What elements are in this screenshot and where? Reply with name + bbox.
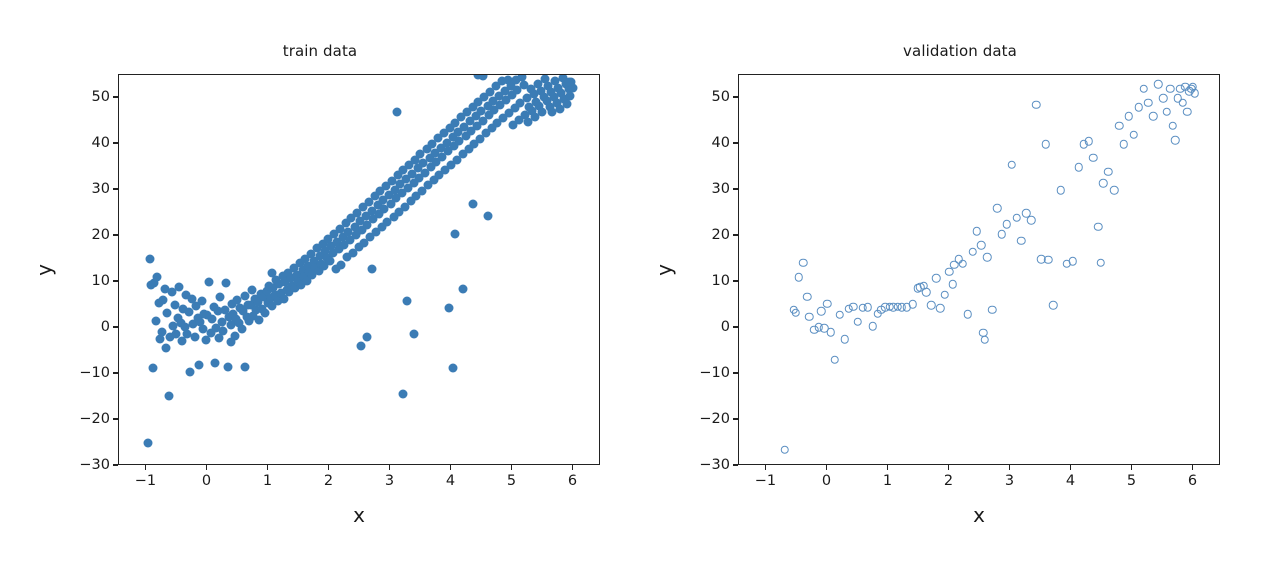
y-tick-mark — [733, 188, 738, 189]
data-point — [1115, 121, 1124, 130]
data-point — [940, 291, 949, 300]
data-point — [936, 304, 945, 313]
data-point — [186, 368, 195, 377]
data-point — [831, 355, 840, 364]
data-point — [1097, 258, 1106, 267]
data-point — [945, 268, 954, 277]
data-point — [1012, 213, 1021, 222]
data-point — [1049, 301, 1058, 310]
data-point — [849, 303, 858, 312]
data-point — [1178, 98, 1187, 107]
data-point — [450, 230, 459, 239]
y-tick-mark — [733, 234, 738, 235]
data-point — [932, 274, 941, 283]
x-tick-label: 3 — [385, 473, 394, 489]
y-tick-mark — [733, 280, 738, 281]
y-tick-label: −10 — [74, 365, 110, 381]
x-tick-label: 2 — [324, 473, 333, 489]
data-point — [449, 364, 458, 373]
data-point — [1007, 160, 1016, 169]
data-point — [1125, 112, 1134, 121]
y-tick-label: 40 — [694, 135, 730, 151]
data-point — [1017, 236, 1026, 245]
data-point — [1159, 94, 1168, 103]
y-tick-mark — [113, 372, 118, 373]
y-tick-mark — [733, 142, 738, 143]
data-point — [194, 361, 203, 370]
data-point — [410, 329, 419, 338]
data-point — [993, 204, 1002, 213]
x-tick-mark — [511, 465, 512, 470]
data-point — [840, 335, 849, 344]
y-tick-mark — [113, 326, 118, 327]
data-point — [145, 255, 154, 264]
data-point — [1169, 121, 1178, 130]
x-tick-mark — [450, 465, 451, 470]
x-axis-label-train: x — [353, 503, 365, 527]
data-point — [393, 108, 402, 117]
data-point — [565, 77, 574, 86]
x-tick-mark — [389, 465, 390, 470]
data-point — [1042, 140, 1051, 149]
x-tick-mark — [267, 465, 268, 470]
x-tick-mark — [1131, 465, 1132, 470]
data-point — [402, 296, 411, 305]
y-tick-mark — [113, 188, 118, 189]
x-tick-label: 6 — [568, 473, 577, 489]
x-tick-label: −1 — [135, 473, 156, 489]
y-tick-mark — [113, 96, 118, 97]
data-point — [469, 199, 478, 208]
data-point — [238, 324, 247, 333]
x-tick-label: −1 — [755, 473, 776, 489]
x-axis-label-validation: x — [973, 503, 985, 527]
y-tick-mark — [113, 280, 118, 281]
data-point — [1032, 101, 1041, 110]
data-point — [959, 259, 968, 268]
x-tick-label: 0 — [202, 473, 211, 489]
y-tick-mark — [733, 326, 738, 327]
x-tick-mark — [1192, 465, 1193, 470]
data-point — [478, 74, 487, 80]
data-point — [241, 363, 250, 372]
x-tick-label: 0 — [822, 473, 831, 489]
data-point — [977, 241, 986, 250]
y-tick-label: −20 — [694, 411, 730, 427]
data-point — [163, 308, 172, 317]
x-tick-mark — [145, 465, 146, 470]
y-tick-mark — [113, 418, 118, 419]
chart-title-train: train data — [0, 42, 640, 60]
y-tick-label: 10 — [74, 273, 110, 289]
x-tick-mark — [765, 465, 766, 470]
plot-area-train — [118, 74, 600, 465]
y-tick-label: 30 — [694, 181, 730, 197]
x-tick-mark — [328, 465, 329, 470]
x-tick-mark — [826, 465, 827, 470]
data-point — [337, 260, 346, 269]
data-point — [1068, 257, 1077, 266]
y-tick-label: 20 — [694, 227, 730, 243]
data-point — [398, 390, 407, 399]
data-point — [153, 273, 162, 282]
subplot-train-data: train data −10123456−30−20−1001020304050… — [0, 0, 640, 566]
data-point — [948, 280, 957, 289]
data-point — [362, 333, 371, 342]
data-point — [805, 313, 814, 322]
data-point — [1149, 112, 1158, 121]
data-point — [877, 305, 886, 314]
data-point — [927, 301, 936, 310]
data-point — [205, 277, 214, 286]
data-point — [1139, 85, 1148, 94]
x-tick-mark — [206, 465, 207, 470]
x-tick-mark — [572, 465, 573, 470]
data-point — [1089, 154, 1098, 163]
x-tick-mark — [1009, 465, 1010, 470]
x-tick-label: 6 — [1188, 473, 1197, 489]
data-point — [1099, 179, 1108, 188]
data-point — [458, 284, 467, 293]
data-point — [998, 230, 1007, 239]
data-point — [222, 278, 231, 287]
y-axis-label-train: y — [32, 264, 56, 276]
x-tick-label: 5 — [1127, 473, 1136, 489]
data-point — [1191, 89, 1200, 98]
data-point — [1104, 167, 1113, 176]
data-point — [983, 253, 992, 262]
data-point — [964, 310, 973, 319]
data-point — [165, 392, 174, 401]
y-tick-label: 20 — [74, 227, 110, 243]
y-tick-label: 50 — [74, 89, 110, 105]
data-point — [1144, 98, 1153, 107]
x-tick-label: 1 — [883, 473, 892, 489]
x-tick-label: 4 — [1066, 473, 1075, 489]
data-point — [368, 265, 377, 274]
data-point — [1027, 216, 1036, 225]
data-point — [781, 446, 790, 455]
data-point — [1084, 137, 1093, 146]
data-point — [445, 303, 454, 312]
subplot-validation-data: validation data −10123456−30−20−10010203… — [640, 0, 1280, 566]
x-tick-label: 3 — [1005, 473, 1014, 489]
data-point — [1171, 136, 1180, 145]
data-point — [353, 227, 362, 236]
y-tick-label: 50 — [694, 89, 730, 105]
data-point — [152, 316, 161, 325]
data-point — [562, 100, 571, 109]
data-point — [161, 343, 170, 352]
data-point — [1183, 108, 1192, 117]
data-point — [216, 293, 225, 302]
data-point — [1162, 108, 1171, 117]
y-tick-label: −30 — [694, 457, 730, 473]
x-tick-label: 1 — [263, 473, 272, 489]
data-point — [1075, 163, 1084, 172]
data-point — [868, 322, 877, 331]
y-tick-label: −10 — [694, 365, 730, 381]
chart-title-validation: validation data — [640, 42, 1280, 60]
data-point — [863, 303, 872, 312]
x-tick-label: 2 — [944, 473, 953, 489]
data-point — [174, 282, 183, 291]
y-tick-label: −20 — [74, 411, 110, 427]
data-point — [226, 337, 235, 346]
data-point — [148, 363, 157, 372]
data-point — [1130, 131, 1139, 140]
data-point — [357, 342, 366, 351]
data-point — [268, 269, 277, 278]
y-tick-mark — [733, 464, 738, 465]
data-point — [1094, 223, 1103, 232]
data-point — [1120, 140, 1129, 149]
data-point — [823, 299, 832, 308]
data-point — [922, 288, 931, 297]
data-point — [1134, 103, 1143, 112]
data-point — [197, 296, 206, 305]
y-axis-label-validation: y — [652, 264, 676, 276]
x-tick-mark — [948, 465, 949, 470]
data-point — [1154, 80, 1163, 89]
y-tick-mark — [113, 464, 118, 465]
data-point — [826, 328, 835, 337]
y-tick-label: 30 — [74, 181, 110, 197]
data-point — [1003, 220, 1012, 229]
data-point — [157, 327, 166, 336]
data-point — [968, 247, 977, 256]
y-tick-label: 0 — [74, 319, 110, 335]
data-point — [903, 303, 912, 312]
data-point — [981, 335, 990, 344]
data-point — [803, 292, 812, 301]
y-tick-mark — [733, 418, 738, 419]
data-point — [854, 317, 863, 326]
data-point — [1166, 85, 1175, 94]
data-point — [988, 305, 997, 314]
data-point — [791, 309, 800, 318]
y-tick-mark — [113, 142, 118, 143]
data-point — [973, 227, 982, 236]
y-tick-label: −30 — [74, 457, 110, 473]
y-tick-mark — [113, 234, 118, 235]
x-tick-mark — [887, 465, 888, 470]
data-point — [144, 439, 153, 448]
y-tick-mark — [733, 96, 738, 97]
data-point — [835, 310, 844, 319]
x-tick-label: 4 — [446, 473, 455, 489]
y-tick-label: 40 — [74, 135, 110, 151]
data-point — [260, 309, 269, 318]
data-point — [223, 362, 232, 371]
data-point — [799, 258, 808, 267]
plot-area-validation — [738, 74, 1220, 465]
data-point — [210, 358, 219, 367]
figure-canvas: train data −10123456−30−20−1001020304050… — [0, 0, 1280, 566]
data-point — [1044, 256, 1053, 265]
x-tick-label: 5 — [507, 473, 516, 489]
x-tick-mark — [1070, 465, 1071, 470]
y-tick-label: 0 — [694, 319, 730, 335]
y-tick-mark — [733, 372, 738, 373]
data-point — [795, 273, 804, 282]
data-point — [158, 296, 167, 305]
data-point — [190, 333, 199, 342]
data-point — [1056, 186, 1065, 195]
data-point — [817, 307, 826, 316]
y-tick-label: 10 — [694, 273, 730, 289]
data-point — [1110, 186, 1119, 195]
data-point — [484, 212, 493, 221]
